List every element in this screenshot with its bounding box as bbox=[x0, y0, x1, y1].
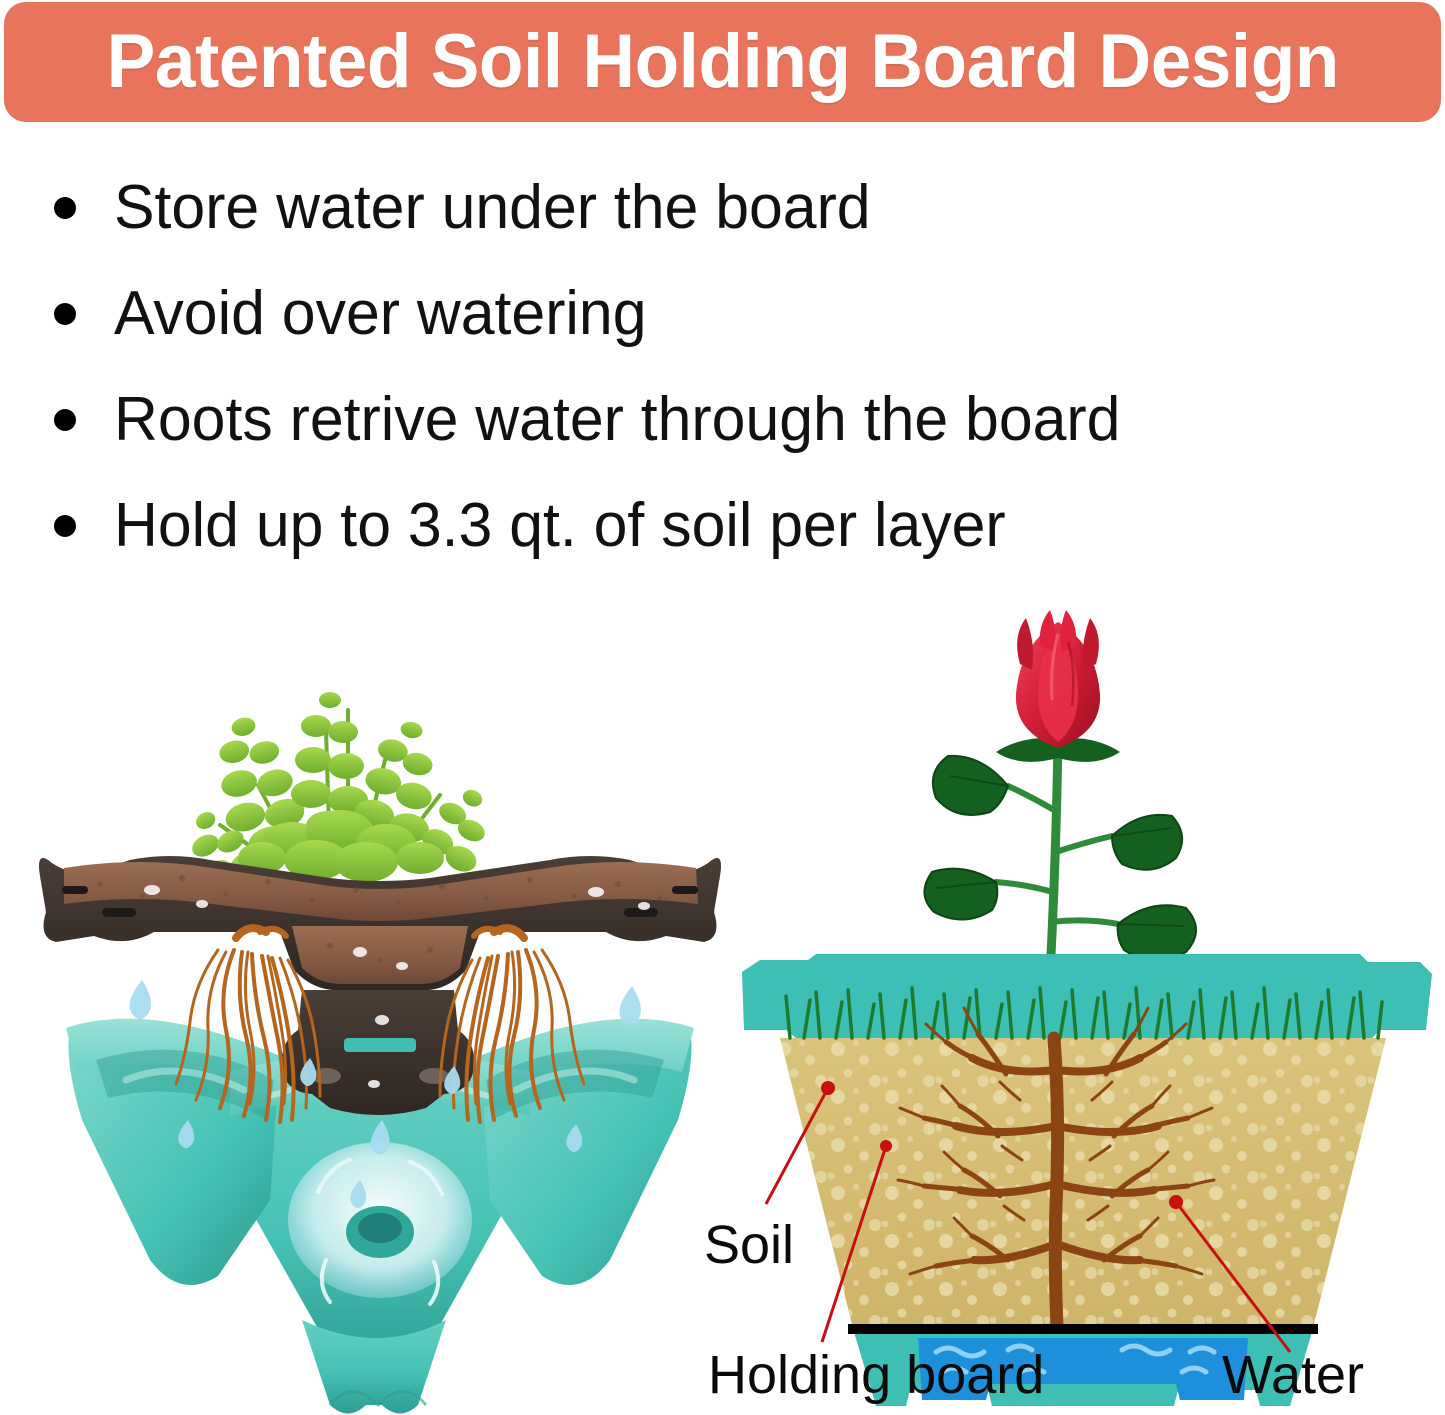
product-photo-stacked-planter bbox=[30, 560, 730, 1415]
soil-layer bbox=[780, 1038, 1386, 1332]
bullet-dot-icon bbox=[54, 303, 76, 325]
rose-plant bbox=[924, 610, 1196, 975]
bullet-dot-icon bbox=[54, 515, 76, 537]
bullet-label: Store water under the board bbox=[114, 175, 871, 240]
page-title: Patented Soil Holding Board Design bbox=[106, 24, 1338, 100]
list-item: Store water under the board bbox=[54, 155, 1394, 261]
bullet-label: Hold up to 3.3 qt. of soil per layer bbox=[114, 493, 1006, 558]
bullet-label: Avoid over watering bbox=[114, 281, 647, 346]
bullet-dot-icon bbox=[54, 409, 76, 431]
bullet-dot-icon bbox=[54, 197, 76, 219]
list-item: Avoid over watering bbox=[54, 261, 1394, 367]
callout-label-water: Water bbox=[1222, 1348, 1364, 1402]
rose-bud-icon bbox=[1016, 610, 1100, 748]
figure-area bbox=[0, 560, 1445, 1415]
feature-bullet-list: Store water under the board Avoid over w… bbox=[54, 155, 1394, 579]
bullet-label: Roots retrive water through the board bbox=[114, 387, 1120, 452]
header-banner: Patented Soil Holding Board Design bbox=[4, 2, 1441, 122]
list-item: Roots retrive water through the board bbox=[54, 367, 1394, 473]
infographic-page: Patented Soil Holding Board Design Store… bbox=[0, 0, 1445, 1415]
cross-section-diagram bbox=[720, 560, 1445, 1415]
callout-label-holding-board: Holding board bbox=[708, 1348, 1044, 1402]
callout-label-soil: Soil bbox=[704, 1218, 794, 1272]
holding-board-line bbox=[848, 1324, 1318, 1334]
